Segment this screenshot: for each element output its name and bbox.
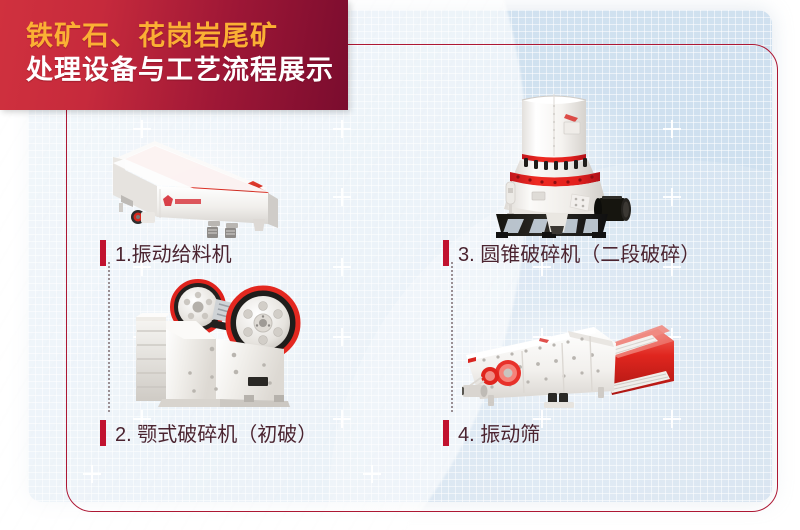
title-line-1: 铁矿石、花岗岩尾矿 (26, 19, 336, 53)
caption-accent-bar (100, 420, 106, 446)
caption-jaw-crusher: 2. 颚式破碎机（初破） (100, 418, 317, 447)
connector-dotted-line (451, 262, 455, 412)
machine-image-cone-crusher (472, 86, 637, 238)
caption-accent-bar (443, 240, 449, 266)
caption-label: 4. 振动筛 (458, 418, 540, 447)
machine-image-vibrating-screen (462, 303, 677, 421)
caption-label: 2. 颚式破碎机（初破） (115, 418, 317, 447)
machine-image-vibrating-feeder (103, 133, 283, 238)
caption-cone-crusher: 3. 圆锥破碎机（二段破碎） (443, 238, 700, 267)
caption-label: 3. 圆锥破碎机（二段破碎） (458, 238, 700, 267)
poster-canvas: 1.振动给料机 (0, 0, 800, 530)
title-line-2: 处理设备与工艺流程展示 (26, 53, 336, 87)
caption-label: 1.振动给料机 (115, 238, 232, 267)
caption-accent-bar (100, 240, 106, 266)
connector-dotted-line (108, 262, 112, 412)
caption-vibrating-screen: 4. 振动筛 (443, 418, 540, 447)
caption-vibrating-feeder: 1.振动给料机 (100, 238, 232, 267)
machine-image-jaw-crusher (124, 277, 304, 407)
caption-accent-bar (443, 420, 449, 446)
title-banner: 铁矿石、花岗岩尾矿 处理设备与工艺流程展示 (0, 0, 348, 110)
title-banner-text: 铁矿石、花岗岩尾矿 处理设备与工艺流程展示 (26, 19, 336, 87)
